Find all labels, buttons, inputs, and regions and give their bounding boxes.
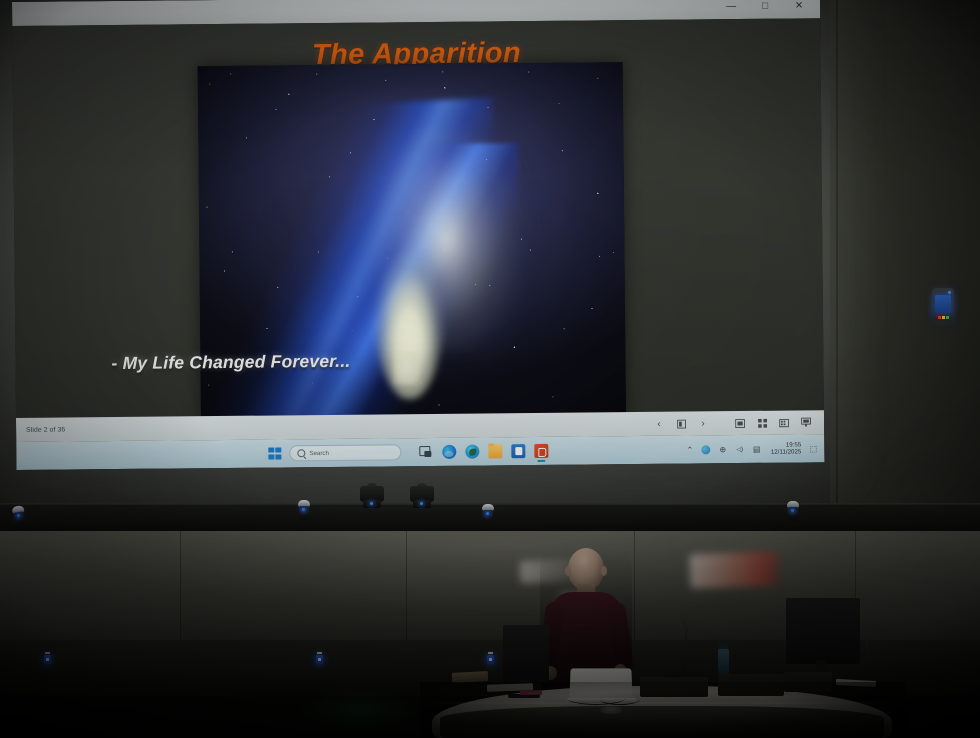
book	[452, 671, 488, 683]
desk-cable-2	[600, 694, 640, 705]
left-monitor	[503, 625, 549, 683]
panel-divider	[634, 531, 635, 649]
presenter-view-button[interactable]	[796, 414, 816, 431]
ptz-camera-2	[297, 500, 311, 520]
floor-green-glow	[300, 690, 420, 730]
wall-seam	[836, 0, 838, 505]
close-button[interactable]: ✕	[782, 0, 816, 18]
edge-icon[interactable]	[442, 445, 456, 459]
water-bottle	[718, 648, 729, 676]
search-placeholder: Search	[309, 449, 329, 456]
panel-divider	[180, 531, 181, 649]
all-slides-button[interactable]	[752, 414, 772, 431]
maximize-button[interactable]: □	[748, 0, 782, 18]
projected-screen: — □ ✕ PowerPoint Slide Show - IAA Talk -…	[12, 0, 824, 470]
presenter-ear-left	[565, 566, 571, 576]
clock[interactable]: 19:55 12/11/2025	[771, 441, 802, 456]
moving-head-light-2	[410, 482, 434, 508]
pen-tools-button[interactable]	[671, 415, 691, 432]
moving-head-light-1	[360, 482, 384, 508]
lectern-front-panel	[440, 706, 884, 738]
powerpoint-taskbar-icon[interactable]	[534, 444, 548, 458]
onedrive-icon[interactable]	[702, 445, 711, 454]
lecture-hall-scene: — □ ✕ PowerPoint Slide Show - IAA Talk -…	[0, 0, 980, 738]
file-explorer-icon[interactable]	[488, 444, 502, 458]
task-view-icon[interactable]	[419, 445, 433, 459]
copilot-icon[interactable]	[465, 445, 479, 459]
cable-grommet	[600, 706, 622, 714]
active-app-indicator	[537, 460, 545, 462]
wall-glare-right	[689, 551, 780, 588]
panel-led-2	[316, 655, 323, 664]
slide-counter: Slide 2 of 36	[26, 426, 65, 433]
taskbar-search-input[interactable]: Search	[289, 444, 401, 461]
clock-date: 12/11/2025	[771, 448, 802, 455]
lectern-edge-highlight	[434, 702, 890, 704]
panel-divider	[406, 531, 407, 649]
panel-led-1	[44, 655, 51, 664]
av-equipment-box-2	[718, 674, 784, 696]
wall-control-panel[interactable]	[932, 288, 954, 322]
tray-overflow-icon[interactable]: ⌃	[685, 444, 695, 454]
slide-caption: - My Life Changed Forever...	[111, 351, 350, 374]
volume-icon[interactable]: ◁)	[735, 444, 745, 454]
notifications-icon[interactable]: ⬚	[808, 443, 818, 453]
slide-canvas: The Apparition - My Life Changed Forever…	[12, 18, 824, 430]
microsoft-store-icon[interactable]	[511, 444, 525, 458]
indicator-leds	[938, 316, 949, 319]
device-screen	[935, 295, 951, 313]
microphone-head	[682, 620, 687, 627]
right-monitor	[786, 598, 860, 664]
presenter-ear-right	[601, 566, 607, 576]
start-button[interactable]	[268, 447, 281, 460]
ptz-camera-4	[786, 501, 800, 521]
ptz-camera-3	[481, 504, 495, 524]
desk-small-item	[520, 690, 542, 695]
battery-icon[interactable]: ▤	[752, 444, 762, 454]
panel-led-3	[487, 655, 494, 664]
status-led-icon	[948, 291, 951, 294]
minimize-button[interactable]: —	[714, 0, 748, 18]
search-icon	[297, 449, 305, 457]
av-equipment-box-3	[784, 672, 832, 692]
av-equipment-box	[640, 677, 708, 697]
previous-slide-button[interactable]: ‹	[649, 415, 669, 432]
system-tray: ⌃ ⊕ ◁) ▤ 19:55 12/11/2025 ⬚	[685, 434, 819, 463]
magnify-button[interactable]	[774, 414, 794, 431]
next-slide-button[interactable]: ›	[693, 415, 713, 432]
ptz-camera-1	[11, 505, 28, 527]
network-icon[interactable]: ⊕	[718, 444, 728, 454]
water-bottle-cap	[719, 643, 728, 649]
zoom-region-button[interactable]	[730, 414, 750, 431]
right-wall	[830, 0, 980, 540]
